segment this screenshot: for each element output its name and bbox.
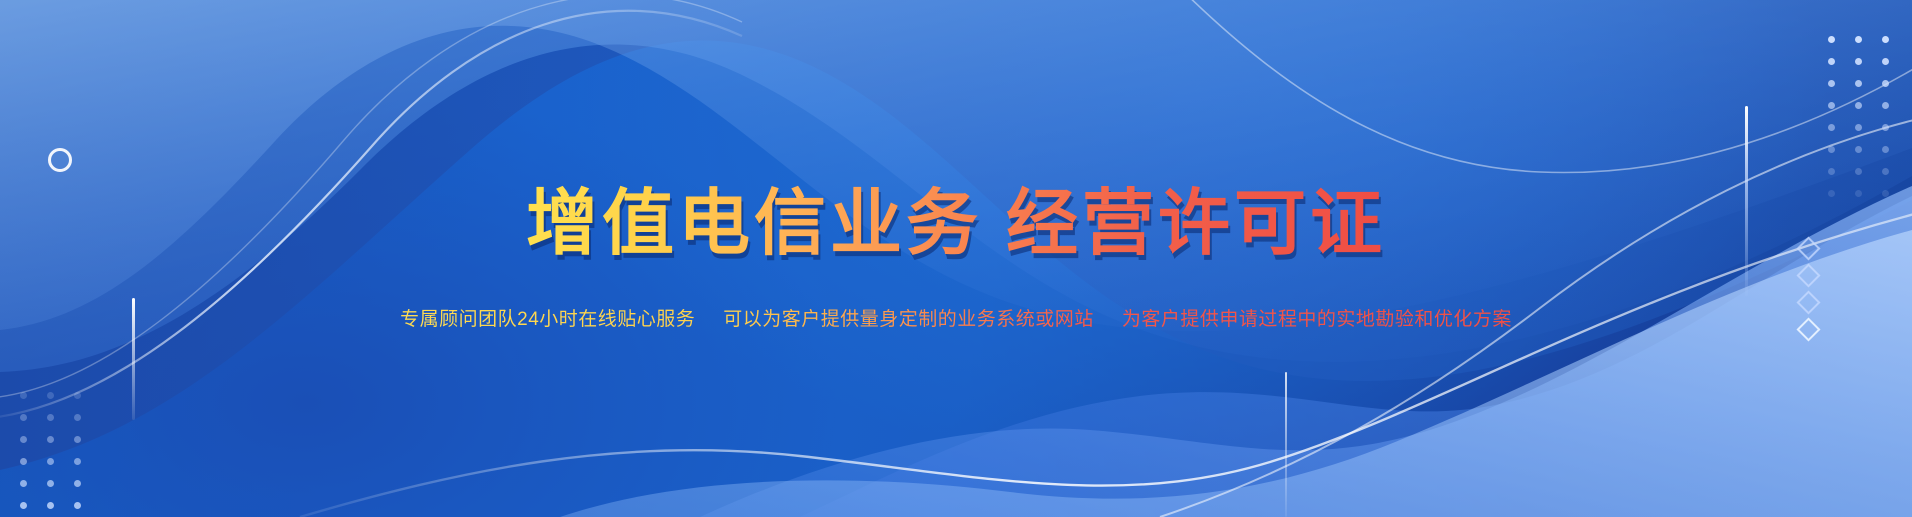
banner-subtitle-item-1: 专属顾问团队24小时在线贴心服务 [400,308,695,333]
promo-banner: 增值电信业务 经营许可证 专属顾问团队24小时在线贴心服务 可以为客户提供量身定… [0,0,1912,517]
banner-content: 增值电信业务 经营许可证 专属顾问团队24小时在线贴心服务 可以为客户提供量身定… [0,0,1912,517]
banner-subtitle-item-3: 为客户提供申请过程中的实地勘验和优化方案 [1122,308,1512,333]
banner-subtitle-item-2: 可以为客户提供量身定制的业务系统或网站 [723,308,1094,333]
banner-headline: 增值电信业务 经营许可证 [526,184,1386,264]
banner-subtitle-list: 专属顾问团队24小时在线贴心服务 可以为客户提供量身定制的业务系统或网站 为客户… [400,308,1512,333]
